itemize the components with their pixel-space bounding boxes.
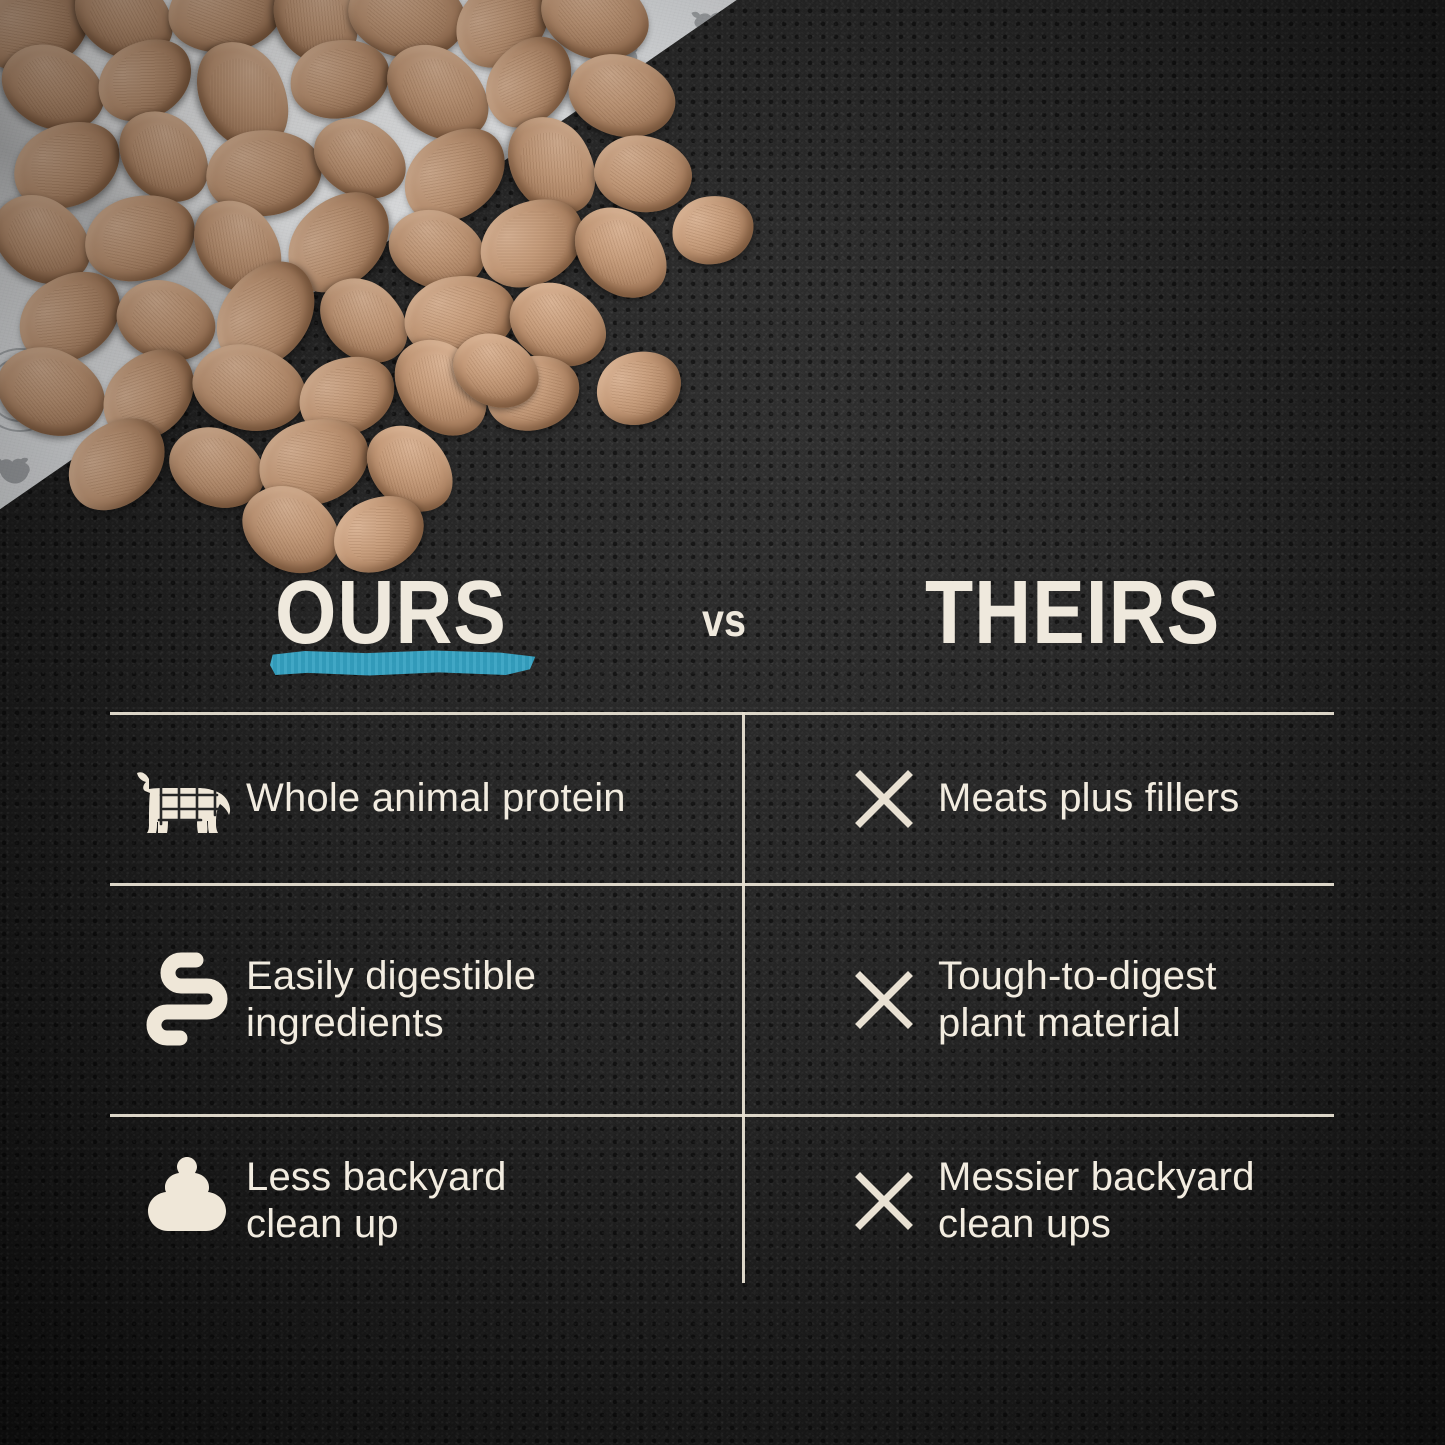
x-mark-icon xyxy=(838,1170,930,1232)
theirs-row-text: Tough-to-digestplant material xyxy=(930,953,1217,1047)
theirs-row-line1: Tough-to-digest xyxy=(938,954,1217,998)
column-divider xyxy=(742,712,745,1283)
x-mark-icon xyxy=(838,969,930,1031)
ours-row-text: Less backyardclean up xyxy=(246,1154,507,1248)
ours-row-line1: Easily digestible xyxy=(246,954,536,998)
comparison-row: Less backyardclean up Messier backyardcl… xyxy=(110,1117,1334,1285)
theirs-row-line1: Messier backyard xyxy=(938,1155,1255,1199)
comparison-grid: Whole animal protein Meats plus fillers xyxy=(110,712,1334,1285)
theirs-row-text: Meats plus fillers xyxy=(930,775,1239,822)
x-mark-icon xyxy=(838,768,930,830)
ours-vs-theirs-comparison: OURS vs THEIRS xyxy=(110,565,1334,1280)
ours-row-line2: ingredients xyxy=(246,1001,444,1045)
ours-cell: Less backyardclean up xyxy=(110,1117,742,1285)
grid-rule-2 xyxy=(110,1114,1334,1117)
ours-heading: OURS xyxy=(275,567,507,657)
theirs-row-line2: plant material xyxy=(938,1001,1181,1045)
theirs-cell: Meats plus fillers xyxy=(742,715,1334,883)
theirs-cell: Messier backyardclean ups xyxy=(742,1117,1334,1285)
ours-row-line1: Less backyard xyxy=(246,1155,507,1199)
theirs-cell: Tough-to-digestplant material xyxy=(742,886,1334,1114)
cow-butcher-cuts-icon xyxy=(128,757,246,841)
comparison-headings: OURS vs THEIRS xyxy=(110,565,1334,712)
grid-rule-top xyxy=(110,712,1334,715)
comparison-row: Whole animal protein Meats plus fillers xyxy=(110,715,1334,883)
product-comparison-infographic: BUTCHER CUT PROTEIN xyxy=(0,0,1445,1445)
theirs-row-text: Messier backyardclean ups xyxy=(930,1154,1255,1248)
intestine-icon xyxy=(128,951,246,1049)
ours-cell: Whole animal protein xyxy=(110,715,742,883)
ours-row-text: Easily digestibleingredients xyxy=(246,953,536,1047)
poop-icon xyxy=(128,1155,246,1247)
grid-rule-1 xyxy=(110,883,1334,886)
ours-row-text: Whole animal protein xyxy=(246,775,626,822)
ours-cell: Easily digestibleingredients xyxy=(110,886,742,1114)
theirs-row-line2: clean ups xyxy=(938,1202,1111,1246)
comparison-row: Easily digestibleingredients Tough-to-di… xyxy=(110,886,1334,1114)
theirs-heading: THEIRS xyxy=(925,567,1220,657)
vs-label: vs xyxy=(702,593,746,647)
ours-row-line2: clean up xyxy=(246,1202,399,1246)
